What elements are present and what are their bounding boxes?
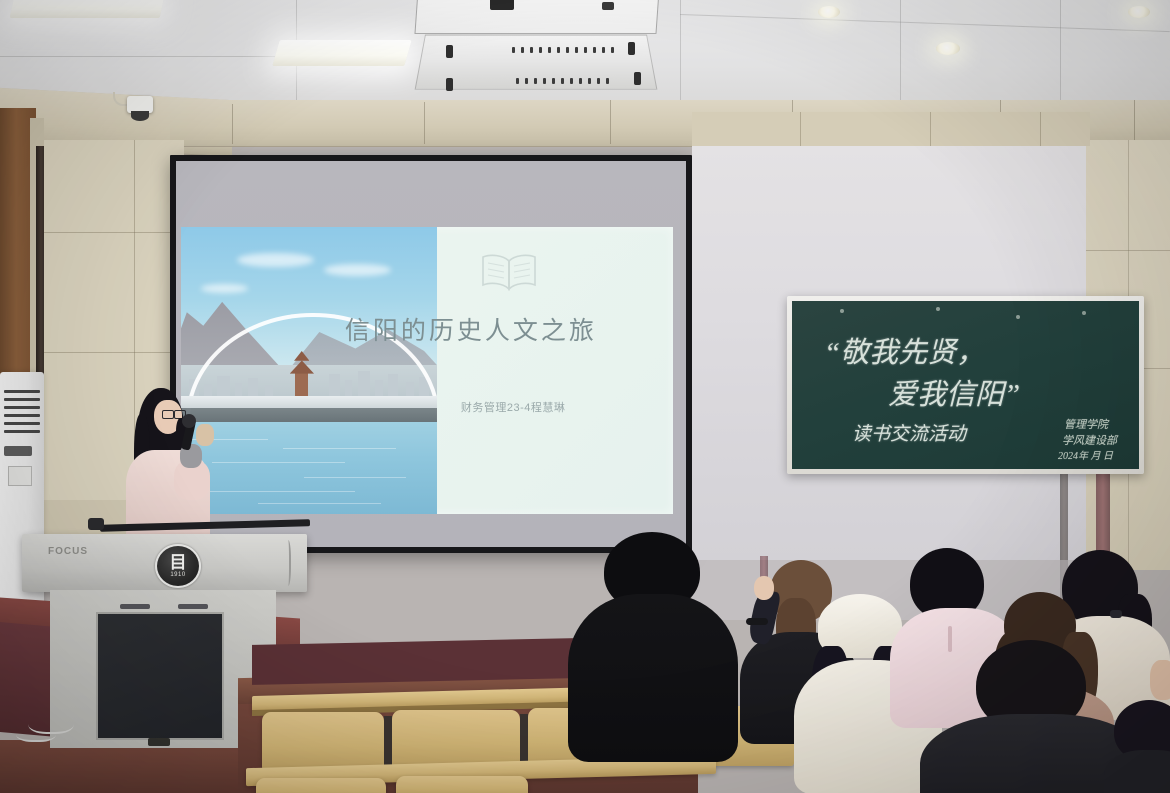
lecture-hall-photo: 信阳的历史人文之旅 财务管理23-4程慧琳 “敬我先贤， 爱我信阳” 读书交流活… [0, 0, 1170, 793]
ceiling-ac-housing [414, 0, 659, 34]
podium-top-panel: FOCUS 目 1910 [22, 534, 307, 592]
ac-vent-row [512, 47, 624, 52]
ceiling-ac-inlet [490, 0, 514, 10]
podium-cable-right [284, 540, 291, 586]
slide-title: 信阳的历史人文之旅 [345, 311, 597, 347]
blackboard-surface: “敬我先贤， 爱我信阳” 读书交流活动 管理学院 学风建设部 2024年 月 日 [792, 301, 1139, 469]
ceiling-seam [900, 0, 901, 100]
seat[interactable] [396, 776, 528, 793]
ceiling-seam [0, 56, 300, 57]
ac-vent-row [516, 78, 628, 83]
audience-member-9 [1150, 660, 1170, 730]
slide-text-area: 信阳的历史人文之旅 财务管理23-4程慧琳 [437, 227, 673, 514]
ceiling-panel-light [272, 40, 411, 66]
seat[interactable] [262, 712, 384, 770]
ac-clip [628, 42, 635, 55]
podium-brand-label: FOCUS [48, 546, 88, 557]
microphone-head [182, 414, 196, 428]
ceiling-panel-light [10, 0, 165, 18]
emblem-year: 1910 [157, 572, 199, 578]
presentation-slide: 信阳的历史人文之旅 财务管理23-4程慧琳 [181, 227, 673, 514]
ac-clip [634, 72, 641, 85]
seat[interactable] [392, 710, 520, 768]
blackboard: “敬我先贤， 爱我信阳” 读书交流活动 管理学院 学风建设部 2024年 月 日 [787, 296, 1144, 474]
glasses-icon [162, 410, 174, 419]
security-camera-icon [131, 111, 149, 121]
ac-brand-label [8, 466, 32, 486]
desk-microphone-base [88, 518, 104, 530]
ac-clip [446, 78, 453, 91]
ceiling-ac-inlet [602, 2, 614, 10]
slide-subtitle: 财务管理23-4程慧琳 [461, 399, 566, 415]
blackboard-signature-date: 2024年 月 日 [1058, 451, 1113, 464]
blackboard-line-3: 读书交流活动 [852, 419, 966, 446]
podium-handle[interactable] [148, 738, 170, 746]
torso [568, 594, 738, 762]
floor-air-conditioner [0, 372, 44, 634]
blackboard-signature-org: 管理学院 [1064, 419, 1108, 433]
blackboard-line-1: “敬我先贤， [824, 329, 985, 371]
open-book-icon [479, 251, 539, 293]
emblem-glyph: 目 [157, 554, 199, 571]
ceiling-downlight [1128, 6, 1150, 18]
university-emblem: 目 1910 [155, 544, 201, 588]
ac-clip [446, 45, 453, 58]
seat[interactable] [256, 778, 386, 793]
audience-member-1 [556, 532, 746, 762]
hand [754, 576, 774, 600]
ceiling-downlight [818, 6, 840, 18]
blackboard-signature-dept: 学风建设部 [1062, 435, 1117, 449]
ac-display [4, 446, 32, 456]
ceiling-seam [1060, 0, 1061, 100]
torso [1104, 750, 1170, 793]
ceiling-downlight [936, 42, 960, 55]
blackboard-line-2: 爱我信阳” [888, 371, 1020, 413]
wall-upper-band [692, 112, 1090, 146]
ceiling-seam [680, 0, 681, 104]
podium-touch-screen[interactable] [96, 612, 224, 740]
face [1150, 660, 1170, 700]
wristband [746, 618, 768, 625]
